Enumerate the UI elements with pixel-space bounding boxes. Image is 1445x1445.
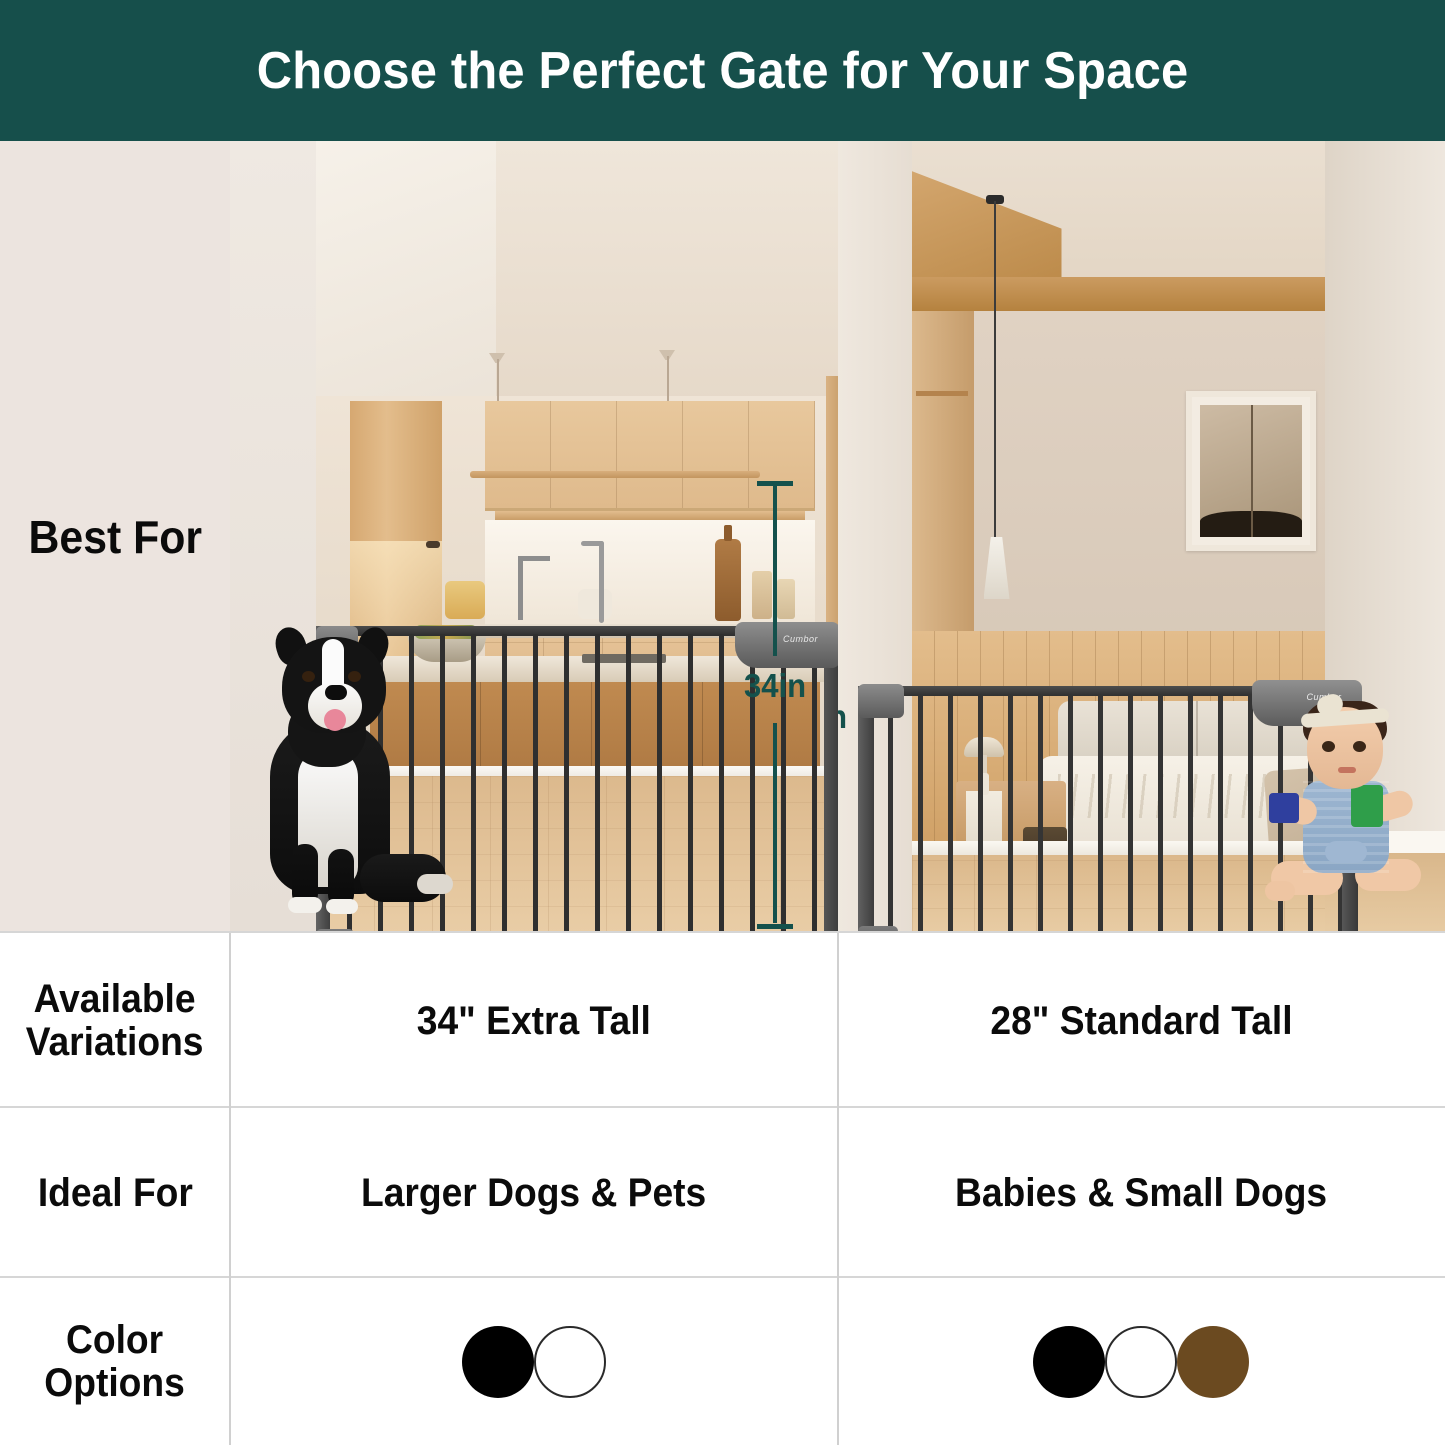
pendant-cord xyxy=(994,201,996,541)
header-banner: Choose the Perfect Gate for Your Space xyxy=(0,0,1445,141)
value-text: 28" Standard Tall xyxy=(990,999,1292,1043)
table-row-ideal-for: Ideal For Larger Dogs & Pets Babies & Sm… xyxy=(0,1108,1445,1278)
wardrobe-rod xyxy=(916,391,968,396)
kettle xyxy=(578,589,612,619)
row-divider xyxy=(0,931,1445,933)
framed-artwork xyxy=(1186,391,1316,551)
row-divider xyxy=(0,1106,1445,1108)
cell-ideal-extra-tall: Larger Dogs & Pets xyxy=(230,1108,838,1278)
color-swatch-black[interactable] xyxy=(462,1326,534,1398)
border-collie-dog xyxy=(252,619,452,919)
cell-ideal-standard-tall: Babies & Small Dogs xyxy=(838,1108,1445,1278)
row-label-line1: Ideal For xyxy=(37,1171,192,1215)
wood-bottle-decor xyxy=(715,539,741,621)
gate-hinge-top xyxy=(858,684,904,718)
cell-colors-standard-tall xyxy=(838,1278,1445,1445)
row-label-line1: Color xyxy=(66,1318,163,1362)
color-swatch-group-standard-tall xyxy=(1033,1326,1249,1398)
column-divider-right xyxy=(837,933,839,1445)
bedroom-scene: Cumbor xyxy=(838,141,1445,933)
table-row-color-options: Color Options xyxy=(0,1278,1445,1445)
table-row-available-variations: Available Variations 34" Extra Tall 28" … xyxy=(0,933,1445,1108)
row-label-color-options: Color Options xyxy=(0,1278,230,1445)
color-swatch-white[interactable] xyxy=(1105,1326,1177,1398)
table-row-best-for: Best For xyxy=(0,141,1445,933)
fruit-decor xyxy=(445,581,485,619)
color-swatch-black[interactable] xyxy=(1033,1326,1105,1398)
gate-post-right xyxy=(824,626,838,933)
toy-block-green xyxy=(1351,785,1383,827)
color-swatch-white[interactable] xyxy=(534,1326,606,1398)
color-swatch-group-extra-tall xyxy=(462,1326,606,1398)
value-text: Larger Dogs & Pets xyxy=(361,1171,706,1215)
row-label-ideal-for: Ideal For xyxy=(0,1108,230,1278)
faucet-main xyxy=(599,541,604,623)
row-label-line1: Best For xyxy=(28,511,202,563)
value-text: 34" Extra Tall xyxy=(417,999,651,1043)
column-divider-left xyxy=(229,933,231,1445)
row-label-line1: Available xyxy=(34,977,196,1021)
page-title: Choose the Perfect Gate for Your Space xyxy=(257,45,1189,97)
toy-block-blue xyxy=(1269,793,1299,823)
measurement-34in: 34in xyxy=(745,481,805,933)
measure-line-lower xyxy=(773,723,777,923)
color-swatch-brown[interactable] xyxy=(1177,1326,1249,1398)
measure-cap-bottom xyxy=(757,924,793,929)
row-divider xyxy=(0,1276,1445,1278)
hero-cell-extra-tall: Cumbor xyxy=(230,141,838,933)
value-text: Babies & Small Dogs xyxy=(955,1171,1327,1215)
row-label-available-variations: Available Variations xyxy=(0,933,230,1108)
kitchen-scene: Cumbor xyxy=(230,141,838,933)
measure-label-28in: 28in xyxy=(838,698,847,736)
door-handle xyxy=(426,541,440,548)
measure-label-34in: 34in xyxy=(744,667,806,705)
row-label-best-for: Best For xyxy=(0,141,230,933)
linear-pendant-light xyxy=(470,471,760,478)
cell-colors-extra-tall xyxy=(230,1278,838,1445)
measure-line-upper xyxy=(773,484,777,656)
measurement-28in: 28in xyxy=(838,536,846,933)
row-label-line2: Options xyxy=(45,1361,186,1405)
faucet-secondary xyxy=(518,556,523,620)
baby-with-blocks xyxy=(1259,701,1439,916)
comparison-table: Best For xyxy=(0,141,1445,1445)
hero-cell-standard-tall: Cumbor xyxy=(838,141,1445,933)
ceiling-beam xyxy=(912,277,1326,311)
comparison-infographic: Choose the Perfect Gate for Your Space B… xyxy=(0,0,1445,1445)
gate-post-left xyxy=(858,686,874,933)
row-label-line2: Variations xyxy=(26,1020,204,1064)
cell-variations-extra-tall: 34" Extra Tall xyxy=(230,933,838,1108)
cell-variations-standard-tall: 28" Standard Tall xyxy=(838,933,1445,1108)
